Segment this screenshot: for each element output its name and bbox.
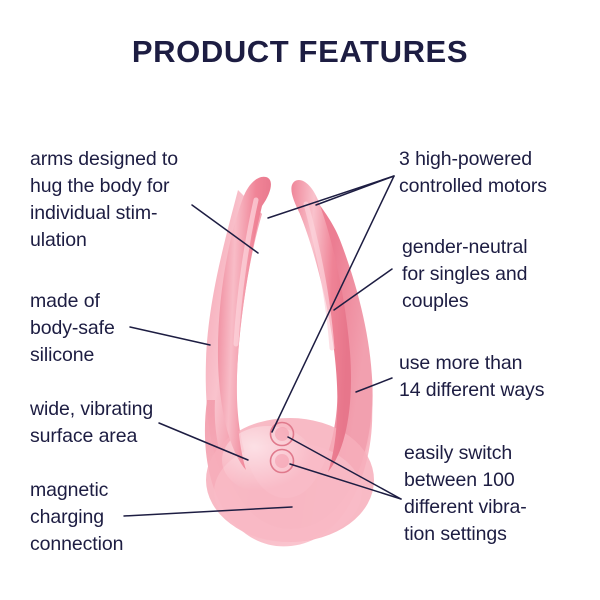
callout-vibrating-surface: wide, vibrating surface area xyxy=(30,396,220,450)
page-title: PRODUCT FEATURES xyxy=(0,34,600,70)
infographic-canvas: PRODUCT FEATURES arms designed to hug th… xyxy=(0,0,600,600)
callout-vibration-settings: easily switch between 100 different vibr… xyxy=(404,440,594,548)
callout-body-safe-silicone: made of body-safe silicone xyxy=(30,288,210,369)
callout-arms-designed: arms designed to hug the body for indivi… xyxy=(30,146,220,254)
callout-different-ways: use more than 14 different ways xyxy=(399,350,589,404)
callout-controlled-motors: 3 high-powered controlled motors xyxy=(399,146,589,200)
callout-magnetic-charging: magnetic charging connection xyxy=(30,477,210,558)
callout-gender-neutral: gender-neutral for singles and couples xyxy=(402,234,587,315)
